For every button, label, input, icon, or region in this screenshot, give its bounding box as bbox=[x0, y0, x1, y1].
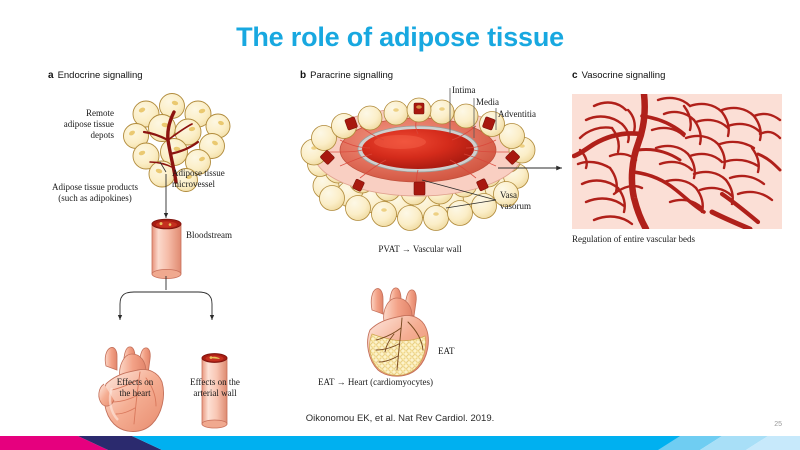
figure-container: aEndocrine signalling bbox=[0, 64, 800, 404]
panel-c-heading-text: Vasocrine signalling bbox=[582, 70, 666, 81]
arrow-b-to-c bbox=[496, 158, 572, 178]
caption-pvat-vascular-wall: PVAT → Vascular wall bbox=[310, 244, 530, 255]
remote-depots-line3: depots bbox=[18, 130, 114, 141]
panel-b-leader-lines bbox=[420, 86, 530, 166]
bloodstream-cylinder bbox=[152, 219, 181, 278]
effects-artery-line1: Effects on the bbox=[160, 377, 270, 388]
page-title: The role of adipose tissue bbox=[0, 22, 800, 53]
panel-b-letter: b bbox=[300, 70, 306, 81]
cyan-segment bbox=[132, 436, 680, 450]
panel-a-flow-diagram bbox=[100, 156, 260, 376]
label-adventitia: Adventitia bbox=[498, 109, 536, 120]
panel-c-letter: c bbox=[572, 70, 578, 81]
slide-number: 25 bbox=[774, 421, 782, 428]
caption-eat-heart-cardiomyocytes: EAT → Heart (cardiomyocytes) bbox=[318, 377, 433, 388]
vasa-line2: vasorum bbox=[500, 201, 560, 212]
vascular-bed-illustration bbox=[572, 94, 782, 229]
label-effects-on-arterial-wall: Effects on the arterial wall bbox=[160, 377, 270, 399]
label-bloodstream: Bloodstream bbox=[186, 230, 232, 241]
panel-c-heading: cVasocrine signalling bbox=[572, 70, 665, 81]
label-intima: Intima bbox=[452, 85, 476, 96]
panel-a-letter: a bbox=[48, 70, 54, 81]
effects-artery-line2: arterial wall bbox=[160, 388, 270, 399]
slide-canvas: The role of adipose tissue aEndocrine si… bbox=[0, 0, 800, 450]
panel-b-heading-text: Paracrine signalling bbox=[310, 70, 393, 81]
bottom-decorative-bar bbox=[0, 433, 800, 450]
panel-a-heading-text: Endocrine signalling bbox=[58, 70, 143, 81]
label-vasa-vasorum: Vasa vasorum bbox=[500, 190, 560, 212]
label-remote-adipose-depots: Remote adipose tissue depots bbox=[18, 108, 114, 141]
caption-regulation-vascular-beds: Regulation of entire vascular beds bbox=[572, 234, 695, 245]
eat-heart-illustration bbox=[356, 286, 442, 378]
label-eat: EAT bbox=[438, 346, 455, 357]
panel-b-heading: bParacrine signalling bbox=[300, 70, 393, 81]
remote-depots-line2: adipose tissue bbox=[18, 119, 114, 130]
label-media: Media bbox=[476, 97, 499, 108]
vasa-line1: Vasa bbox=[500, 190, 560, 201]
panel-a-heading: aEndocrine signalling bbox=[48, 70, 143, 81]
remote-depots-line1: Remote bbox=[18, 108, 114, 119]
citation-text: Oikonomou EK, et al. Nat Rev Cardiol. 20… bbox=[0, 413, 800, 424]
